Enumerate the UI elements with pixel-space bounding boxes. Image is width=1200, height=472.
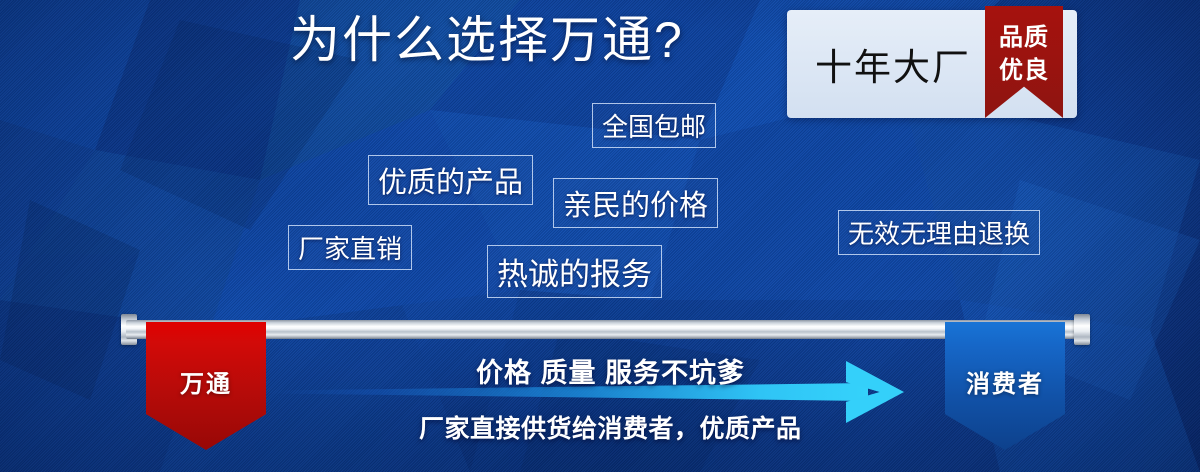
ribbon-icon: 品质 优良: [985, 6, 1063, 118]
ribbon-line-2: 优良: [985, 50, 1063, 85]
target-flag-label: 消费者: [945, 364, 1065, 399]
quality-badge: 十年大厂 品质 优良: [787, 10, 1077, 118]
feature-tag-free-return: 无效无理由退换: [838, 210, 1040, 255]
flow-subline: 厂家直接供货给消费者，优质产品: [419, 409, 802, 445]
metal-rod: [126, 320, 1078, 339]
promo-banner: 为什么选择万通? 十年大厂 品质 优良 全国包邮 优质的产品 亲民的价格 厂家直…: [0, 0, 1200, 472]
flow-headline: 价格 质量 服务不坑爹: [476, 351, 745, 390]
feature-tag-quality-product: 优质的产品: [368, 155, 533, 205]
feature-tag-factory-direct: 厂家直销: [288, 225, 412, 270]
ribbon-line-1: 品质: [985, 17, 1063, 52]
source-flag-label: 万通: [146, 364, 266, 399]
badge-label: 十年大厂: [815, 37, 971, 91]
feature-tag-warm-service: 热诚的报务: [487, 245, 662, 298]
rod-cap-right-icon: [1074, 314, 1090, 345]
page-title: 为什么选择万通?: [290, 14, 684, 67]
feature-tag-friendly-price: 亲民的价格: [553, 178, 718, 228]
feature-tag-nationwide-shipping: 全国包邮: [592, 103, 716, 148]
